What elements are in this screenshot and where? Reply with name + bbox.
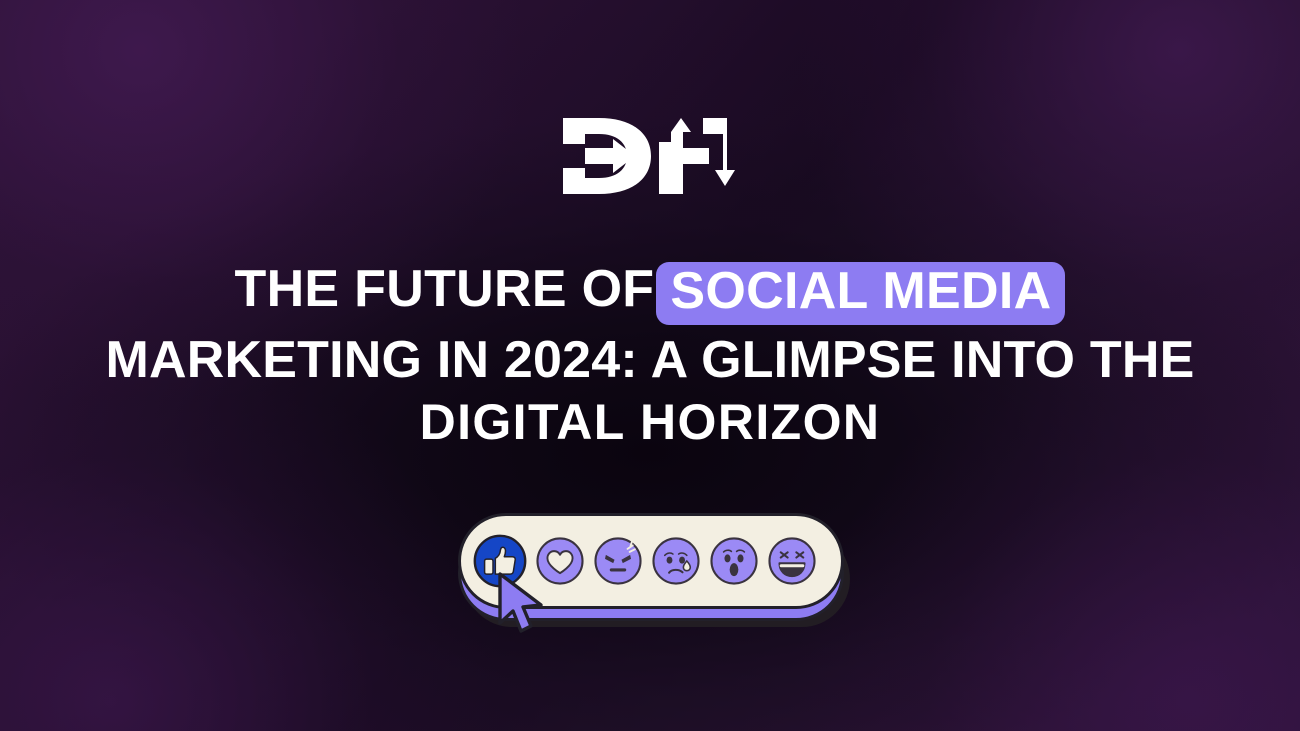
brand-logo — [555, 106, 745, 206]
headline-line-1-plain: THE FUTURE OF — [235, 260, 655, 318]
page-title: THE FUTURE OFSOCIAL MEDIA MARKETING IN 2… — [55, 260, 1245, 447]
open-mouth-icon — [730, 563, 739, 576]
mouse-cursor-pointer — [494, 571, 552, 637]
headline-line-1: THE FUTURE OFSOCIAL MEDIA — [55, 260, 1245, 323]
headline-line-2: MARKETING IN 2024: A GLIMPSE INTO THE — [55, 334, 1245, 386]
h-crossbar — [683, 148, 709, 164]
banner-content: THE FUTURE OFSOCIAL MEDIA MARKETING IN 2… — [0, 0, 1300, 731]
headline-line-3: DIGITAL HORIZON — [55, 397, 1245, 447]
banner-canvas: THE FUTURE OFSOCIAL MEDIA MARKETING IN 2… — [0, 0, 1300, 731]
reaction-sad-button[interactable] — [650, 535, 702, 587]
reaction-angry-button[interactable] — [592, 535, 644, 587]
reaction-haha-button[interactable] — [766, 535, 818, 587]
reaction-wow-button[interactable] — [708, 535, 760, 587]
headline-highlight: SOCIAL MEDIA — [656, 262, 1065, 325]
reaction-bar-group — [450, 509, 850, 639]
